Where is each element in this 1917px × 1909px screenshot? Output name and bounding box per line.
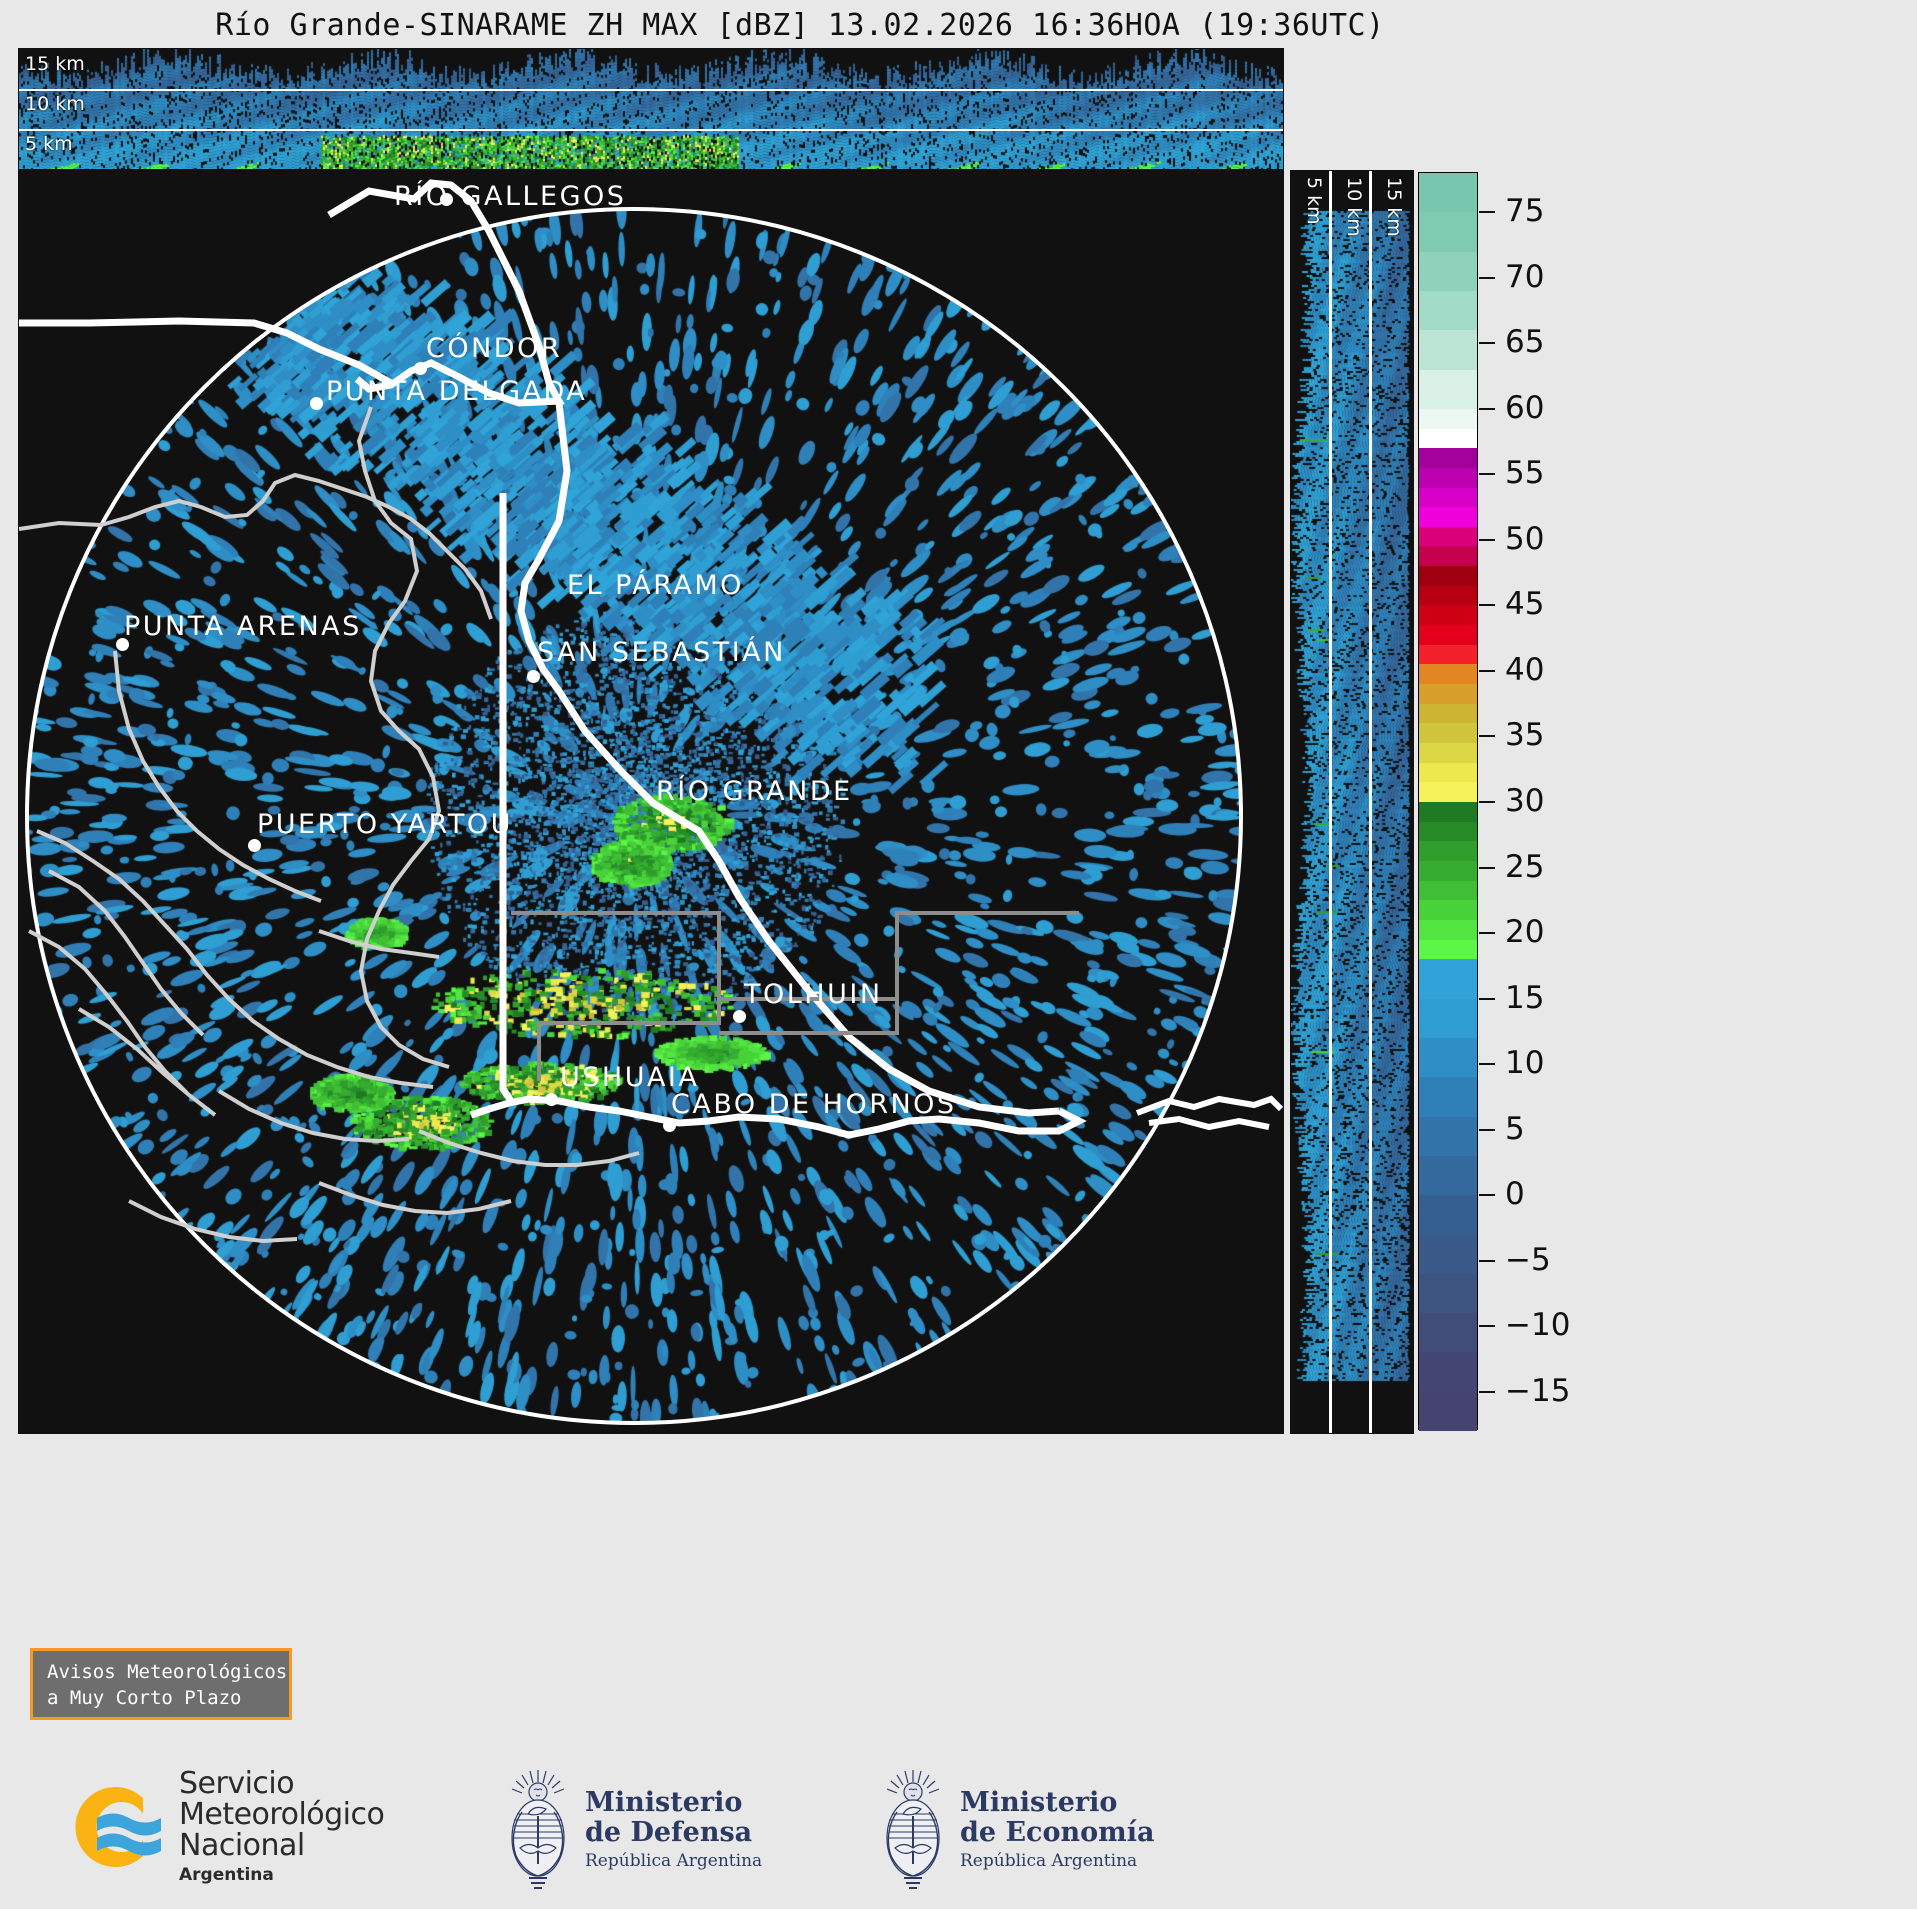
colorbar-tick bbox=[1479, 1063, 1495, 1065]
height-gridline-10km bbox=[19, 89, 1283, 91]
colorbar-segment bbox=[1419, 900, 1477, 920]
colorbar-tick bbox=[1479, 604, 1495, 606]
height-label-5km: 5 km bbox=[25, 133, 73, 155]
smn-logo[interactable]: Servicio Meteorológico Nacional Argentin… bbox=[55, 1768, 384, 1886]
colorbar-tick bbox=[1479, 1129, 1495, 1131]
colorbar-tick bbox=[1479, 801, 1495, 803]
range-label-10km: 10 km bbox=[1343, 177, 1365, 237]
colorbar-segment bbox=[1419, 743, 1477, 763]
colorbar-tick-label: 75 bbox=[1505, 193, 1544, 229]
city-marker-dot bbox=[248, 839, 261, 852]
cross-section-top-canvas bbox=[19, 49, 1283, 169]
coastline-fjords bbox=[29, 831, 639, 1241]
colorbar-segment bbox=[1419, 625, 1477, 645]
colorbar-tick bbox=[1479, 342, 1495, 344]
map-vector-overlay bbox=[19, 171, 1283, 1433]
colorbar-segment bbox=[1419, 1156, 1477, 1195]
colorbar-tick-layer: −15−10−5051015202530354045505560657075 bbox=[1479, 172, 1639, 1430]
defensa-line-3: República Argentina bbox=[585, 1850, 762, 1873]
colorbar-segment bbox=[1419, 586, 1477, 606]
colorbar-segment bbox=[1419, 409, 1477, 429]
colorbar-segment bbox=[1419, 881, 1477, 901]
colorbar-segment bbox=[1419, 566, 1477, 586]
colorbar-segment bbox=[1419, 488, 1477, 508]
colorbar-segment bbox=[1419, 822, 1477, 842]
colorbar-tick-label: −10 bbox=[1505, 1307, 1570, 1343]
cross-section-right-panel: 5 km 10 km 15 km bbox=[1290, 170, 1414, 1434]
ministry-economia-logo[interactable]: Ministerio de Economía República Argenti… bbox=[880, 1766, 1154, 1894]
colorbar-tick bbox=[1479, 277, 1495, 279]
colorbar-tick-label: −15 bbox=[1505, 1373, 1570, 1409]
colorbar-segment bbox=[1419, 1392, 1477, 1431]
colorbar-segment bbox=[1419, 448, 1477, 468]
colorbar bbox=[1418, 172, 1478, 1430]
colorbar-tick bbox=[1479, 1391, 1495, 1393]
economia-line-2: de Economía bbox=[960, 1818, 1154, 1848]
colorbar-segment bbox=[1419, 861, 1477, 881]
city-marker-dot bbox=[414, 362, 427, 375]
coast-south-main bbox=[471, 1099, 1079, 1135]
colorbar-tick-label: 65 bbox=[1505, 324, 1544, 360]
colorbar-segment bbox=[1419, 507, 1477, 527]
colorbar-tick bbox=[1479, 1194, 1495, 1196]
colorbar-segment bbox=[1419, 252, 1477, 291]
colorbar-tick bbox=[1479, 539, 1495, 541]
colorbar-segment bbox=[1419, 684, 1477, 704]
colorbar-tick-label: 30 bbox=[1505, 783, 1544, 819]
coastline-bay bbox=[115, 651, 321, 901]
colorbar-segment bbox=[1419, 782, 1477, 802]
radar-map-panel[interactable]: RÍO GALLEGOSCÓNDORPUNTA DELGADAEL PÁRAMO… bbox=[18, 170, 1284, 1434]
province-boundary bbox=[511, 913, 1079, 1081]
colorbar-tick bbox=[1479, 932, 1495, 934]
colorbar-segment bbox=[1419, 546, 1477, 566]
lake-fagnano bbox=[319, 931, 439, 957]
colorbar-segment bbox=[1419, 212, 1477, 251]
colorbar-tick-label: 5 bbox=[1505, 1111, 1525, 1147]
colorbar-tick bbox=[1479, 1325, 1495, 1327]
cross-section-top-panel: 15 km 10 km 5 km bbox=[18, 48, 1284, 170]
colorbar-segment bbox=[1419, 468, 1477, 488]
colorbar-tick-label: 35 bbox=[1505, 717, 1544, 753]
colorbar-tick bbox=[1479, 473, 1495, 475]
smn-line-2: Meteorológico bbox=[179, 1799, 384, 1830]
coast-islands-east bbox=[1137, 1099, 1281, 1127]
height-label-10km: 10 km bbox=[25, 93, 85, 115]
height-gridline-5km bbox=[19, 129, 1283, 131]
smn-line-1: Servicio bbox=[179, 1768, 384, 1799]
colorbar-tick-label: 40 bbox=[1505, 652, 1544, 688]
border-line-meridian bbox=[503, 493, 511, 1101]
colorbar-gradient bbox=[1418, 172, 1478, 1430]
colorbar-segment bbox=[1419, 1234, 1477, 1273]
border-line-west bbox=[19, 321, 391, 383]
colorbar-segment bbox=[1419, 959, 1477, 998]
defensa-line-2: de Defensa bbox=[585, 1818, 762, 1848]
colorbar-tick-label: 45 bbox=[1505, 586, 1544, 622]
colorbar-segment bbox=[1419, 330, 1477, 369]
economia-line-3: República Argentina bbox=[960, 1850, 1154, 1873]
warning-line-1: Avisos Meteorológicos bbox=[47, 1659, 279, 1685]
warning-box[interactable]: Avisos Meteorológicos a Muy Corto Plazo bbox=[30, 1648, 292, 1720]
colorbar-segment bbox=[1419, 1077, 1477, 1116]
colorbar-tick-label: 0 bbox=[1505, 1176, 1525, 1212]
colorbar-segment bbox=[1419, 802, 1477, 822]
colorbar-tick-label: 25 bbox=[1505, 849, 1544, 885]
range-label-15km: 15 km bbox=[1383, 177, 1405, 237]
colorbar-tick-label: 15 bbox=[1505, 980, 1544, 1016]
range-gridline-15km bbox=[1369, 171, 1372, 1433]
city-marker-dot bbox=[116, 638, 129, 651]
height-label-15km: 15 km bbox=[25, 53, 85, 75]
colorbar-tick-label: 20 bbox=[1505, 914, 1544, 950]
colorbar-segment bbox=[1419, 664, 1477, 684]
colorbar-segment bbox=[1419, 291, 1477, 330]
colorbar-tick-label: 50 bbox=[1505, 521, 1544, 557]
border-line-riogrande bbox=[521, 403, 1059, 1113]
colorbar-segment bbox=[1419, 841, 1477, 861]
colorbar-segment bbox=[1419, 645, 1477, 665]
colorbar-tick bbox=[1479, 998, 1495, 1000]
smn-line-3: Nacional bbox=[179, 1830, 384, 1861]
colorbar-segment bbox=[1419, 763, 1477, 783]
colorbar-tick-label: 70 bbox=[1505, 259, 1544, 295]
colorbar-segment bbox=[1419, 723, 1477, 743]
coastline-chile bbox=[359, 407, 449, 1067]
colorbar-segment bbox=[1419, 920, 1477, 940]
city-marker-dot bbox=[545, 1093, 558, 1106]
colorbar-tick bbox=[1479, 670, 1495, 672]
city-marker-dot bbox=[527, 670, 540, 683]
smn-line-4: Argentina bbox=[179, 1864, 384, 1886]
colorbar-segment bbox=[1419, 1313, 1477, 1352]
colorbar-tick bbox=[1479, 867, 1495, 869]
cross-section-right-canvas bbox=[1291, 171, 1413, 1433]
colorbar-tick bbox=[1479, 1260, 1495, 1262]
ministry-defensa-logo[interactable]: Ministerio de Defensa República Argentin… bbox=[505, 1766, 762, 1894]
colorbar-tick-label: 55 bbox=[1505, 455, 1544, 491]
footer-logo-bar: Servicio Meteorológico Nacional Argentin… bbox=[0, 1762, 1917, 1909]
city-marker-dot bbox=[663, 1119, 676, 1132]
colorbar-tick bbox=[1479, 408, 1495, 410]
colorbar-segment bbox=[1419, 1274, 1477, 1313]
colorbar-segment bbox=[1419, 605, 1477, 625]
colorbar-tick-label: 60 bbox=[1505, 390, 1544, 426]
defensa-line-1: Ministerio bbox=[585, 1788, 762, 1818]
range-gridline-10km bbox=[1329, 171, 1332, 1433]
colorbar-segment bbox=[1419, 1117, 1477, 1156]
city-marker-dot bbox=[440, 193, 453, 206]
colorbar-segment bbox=[1419, 999, 1477, 1038]
range-label-5km: 5 km bbox=[1303, 177, 1325, 225]
argentina-crest-icon bbox=[505, 1766, 571, 1894]
colorbar-segment bbox=[1419, 1195, 1477, 1234]
colorbar-tick bbox=[1479, 211, 1495, 213]
city-marker-dot bbox=[733, 1010, 746, 1023]
colorbar-tick bbox=[1479, 735, 1495, 737]
economia-line-1: Ministerio bbox=[960, 1788, 1154, 1818]
argentina-crest-icon bbox=[880, 1766, 946, 1894]
colorbar-segment bbox=[1419, 429, 1477, 449]
colorbar-segment bbox=[1419, 704, 1477, 724]
colorbar-segment bbox=[1419, 527, 1477, 547]
colorbar-segment bbox=[1419, 1038, 1477, 1077]
smn-emblem-icon bbox=[55, 1772, 165, 1882]
colorbar-segment bbox=[1419, 940, 1477, 960]
colorbar-segment bbox=[1419, 1352, 1477, 1391]
colorbar-tick-label: −5 bbox=[1505, 1242, 1551, 1278]
page-title: Río Grande-SINARAME ZH MAX [dBZ] 13.02.2… bbox=[0, 8, 1600, 43]
city-marker-dot bbox=[310, 397, 323, 410]
colorbar-segment bbox=[1419, 173, 1477, 212]
warning-line-2: a Muy Corto Plazo bbox=[47, 1685, 279, 1711]
colorbar-segment bbox=[1419, 370, 1477, 409]
colorbar-tick-label: 10 bbox=[1505, 1045, 1544, 1081]
range-ring bbox=[27, 209, 1241, 1423]
